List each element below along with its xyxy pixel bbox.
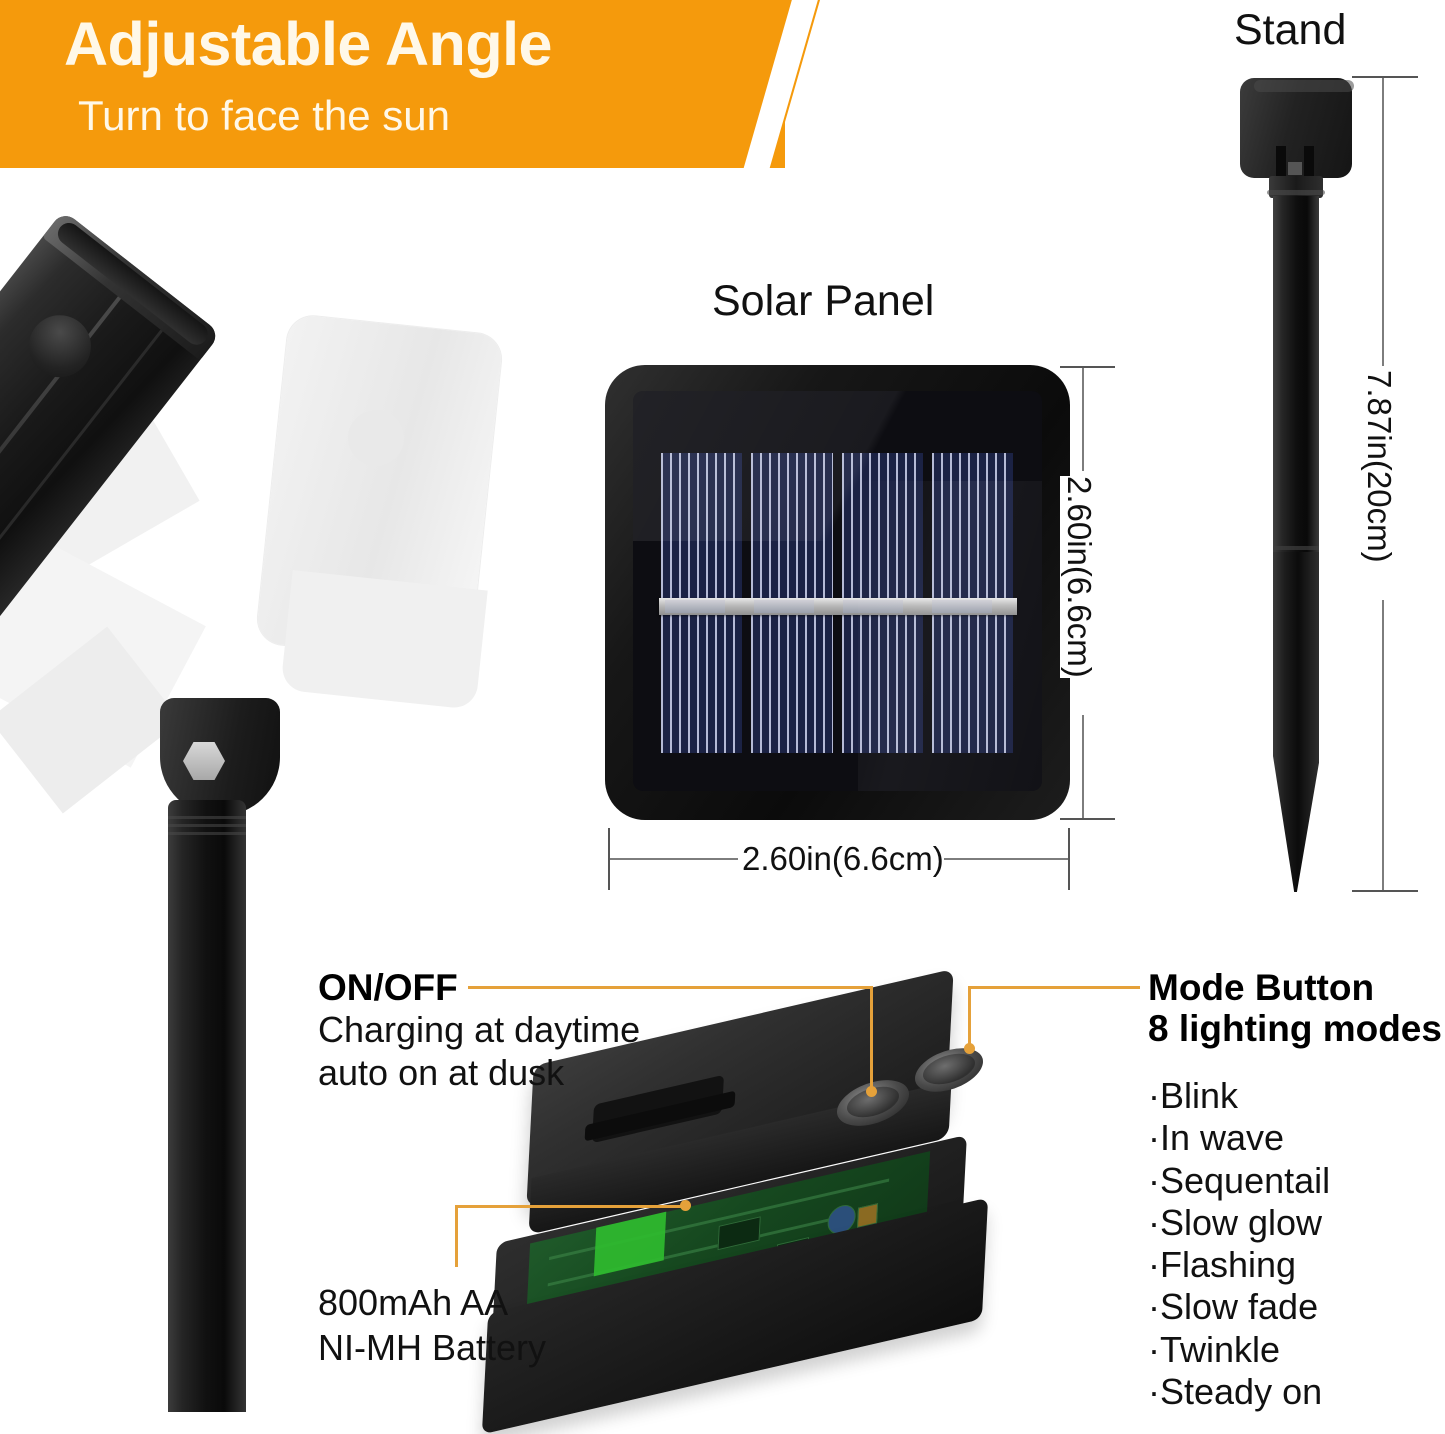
banner-subtitle: Turn to face the sun <box>78 95 450 137</box>
solar-panel-illustration <box>605 365 1070 820</box>
mode-item-slow-glow: ·Slow glow <box>1148 1202 1330 1244</box>
mode-leader-line-vertical <box>968 986 971 1048</box>
panel-height-dim-line-bottom <box>1082 715 1084 820</box>
stand-height-dim-line-top <box>1382 76 1384 366</box>
stand-collar-ring <box>1267 190 1325 195</box>
mode-leader-dot <box>964 1043 975 1054</box>
banner-title: Adjustable Angle <box>64 14 552 75</box>
stand-mount-slot-left <box>1276 146 1286 176</box>
panel-width-dim-line-right <box>938 858 1068 860</box>
panel-width-dim-cap-right <box>1068 828 1070 890</box>
mode-leader-line-horizontal <box>968 986 1140 989</box>
mode-item-slow-fade: ·Slow fade <box>1148 1286 1330 1328</box>
onoff-callout-title: ON/OFF <box>318 967 458 1009</box>
lamp-adjust-knob-icon <box>16 303 103 390</box>
stand-ground-spike <box>1273 552 1319 892</box>
pcb-chip <box>718 1216 761 1250</box>
stand-illustration <box>1232 78 1360 893</box>
stand-height-dim-line-bottom <box>1382 600 1384 892</box>
lighting-modes-list: ·Blink ·In wave ·Sequentail ·Slow glow ·… <box>1148 1075 1330 1413</box>
stand-head-lip <box>1254 80 1354 92</box>
mode-callout-subtitle: 8 lighting modes <box>1148 1008 1442 1050</box>
onoff-leader-line-horizontal <box>468 986 873 989</box>
mode-item-sequentail: ·Sequentail <box>1148 1160 1330 1202</box>
panel-width-dim-label: 2.60in(6.6cm) <box>742 840 944 878</box>
stand-shaft-ring <box>1273 546 1319 550</box>
panel-height-dim-line-top <box>1082 366 1084 471</box>
mode-item-twinkle: ·Twinkle <box>1148 1329 1330 1371</box>
lamp-assembly-illustration <box>0 250 520 1412</box>
ghost-lamp-knob <box>348 410 404 466</box>
panel-width-dim-line-left <box>608 858 738 860</box>
busbar-segment <box>665 600 725 613</box>
stand-heading: Stand <box>1234 6 1346 55</box>
onoff-callout-line2: auto on at dusk <box>318 1052 564 1094</box>
stand-height-dim-cap-top <box>1352 76 1418 78</box>
stand-height-dim-label: 7.87in(20cm) <box>1360 370 1398 563</box>
battery-callout-line1: 800mAh AA <box>318 1282 508 1324</box>
post-ring <box>168 824 246 827</box>
battery-callout-line2: NI-MH Battery <box>318 1327 546 1369</box>
onoff-callout-line1: Charging at daytime <box>318 1009 640 1051</box>
mode-item-steady-on: ·Steady on <box>1148 1371 1330 1413</box>
ghost-lamp-body-lower <box>280 570 487 710</box>
panel-width-dim-cap-left <box>608 828 610 890</box>
solar-panel-heading: Solar Panel <box>712 277 934 326</box>
stand-mount-slot-right <box>1304 146 1314 176</box>
lamp-post <box>168 800 246 1412</box>
mode-callout-title: Mode Button <box>1148 967 1374 1009</box>
mode-item-flashing: ·Flashing <box>1148 1244 1330 1286</box>
battery-leader-line-vertical <box>455 1205 458 1267</box>
stand-height-dim-cap-bottom <box>1352 890 1418 892</box>
onoff-leader-dot <box>866 1086 877 1097</box>
panel-height-dim-cap-top <box>1060 366 1115 368</box>
battery-leader-dot <box>680 1200 691 1211</box>
mode-item-in-wave: ·In wave <box>1148 1117 1330 1159</box>
mode-item-blink: ·Blink <box>1148 1075 1330 1117</box>
panel-glass-reflection-secondary <box>858 481 1042 791</box>
solar-panel-glass <box>633 391 1042 791</box>
stand-mount-slot-center <box>1288 162 1302 175</box>
busbar-segment <box>754 600 814 613</box>
panel-height-dim-label: 2.60in(6.6cm) <box>1060 476 1098 678</box>
stand-shaft <box>1273 196 1319 556</box>
battery-leader-line-horizontal <box>455 1205 685 1208</box>
post-ring <box>168 832 246 835</box>
onoff-leader-line-vertical <box>870 986 873 1091</box>
base-unit-exploded-illustration <box>485 1010 1145 1410</box>
post-ring <box>168 816 246 819</box>
panel-height-dim-cap-bottom <box>1060 818 1115 820</box>
